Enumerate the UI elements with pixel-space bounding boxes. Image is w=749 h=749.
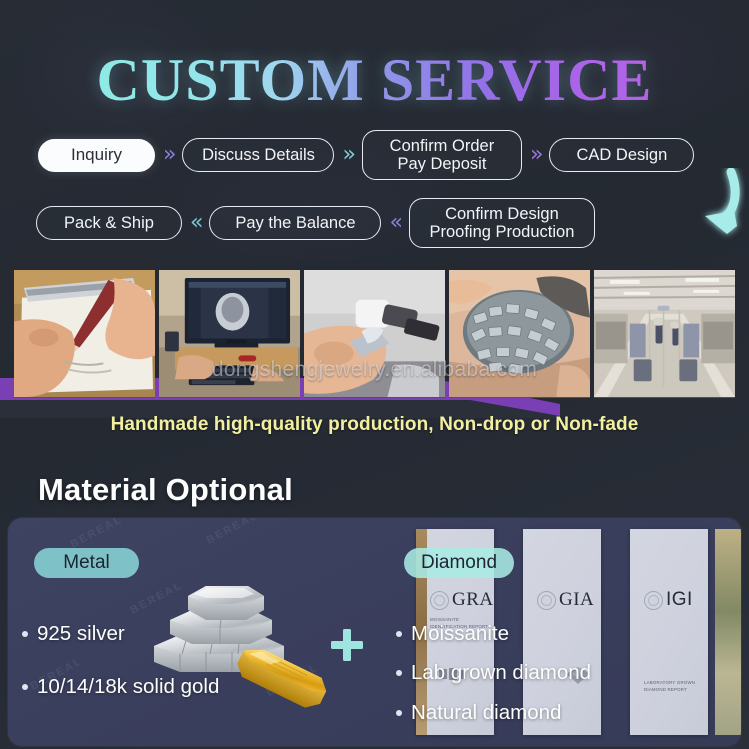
photo-casting-tree <box>449 270 590 398</box>
step-confirm-order-line1: Confirm Order <box>390 137 495 155</box>
list-item: 10/14/18k solid gold <box>22 675 219 699</box>
bullet-dot-icon <box>22 684 28 690</box>
list-item: Moissanite <box>396 622 509 646</box>
diamond-bullet-3: Natural diamond <box>411 701 561 725</box>
step-confirm-design-line2: Proofing Production <box>429 223 574 241</box>
certificate-backdrop <box>715 529 741 735</box>
certificate-igi-logo: IGI <box>666 589 693 611</box>
seal-icon <box>644 591 663 610</box>
seal-icon <box>430 591 449 610</box>
chevron-right-icon: » <box>155 144 182 166</box>
diamond-tag[interactable]: Diamond <box>404 548 514 578</box>
step-confirm-order-line2: Pay Deposit <box>390 155 495 173</box>
bullet-dot-icon <box>22 631 28 637</box>
certificate-igi: IGI LABORATORY GROWN DIAMOND REPORT <box>630 529 708 735</box>
step-pay-balance[interactable]: Pay the Balance <box>209 206 381 240</box>
step-pack-ship-label: Pack & Ship <box>64 214 154 232</box>
certificate-igi-subtitle: LABORATORY GROWN DIAMOND REPORT <box>644 679 706 693</box>
list-item: 925 silver <box>22 622 125 646</box>
section-heading: Material Optional <box>38 472 293 508</box>
chevron-right-icon: » <box>334 144 361 166</box>
bullet-dot-icon <box>396 631 402 637</box>
photo-cad-modeling <box>159 270 300 398</box>
page-title-text: CUSTOM SERVICE <box>97 44 653 116</box>
metal-bullet-2: 10/14/18k solid gold <box>37 675 219 699</box>
list-item: Lab grown diamond <box>396 661 591 685</box>
metal-tag[interactable]: Metal <box>34 548 139 578</box>
metal-bullet-1: 925 silver <box>37 622 125 646</box>
diamond-tag-label: Diamond <box>421 552 497 574</box>
seal-icon <box>537 591 556 610</box>
panel-watermark: BEREAL <box>69 518 125 551</box>
process-flow-row-1: Inquiry » Discuss Details » Confirm Orde… <box>0 133 749 177</box>
chevron-right-icon: » <box>522 144 549 166</box>
photo-factory <box>594 270 735 398</box>
panel-watermark: BEREAL <box>205 518 261 547</box>
step-confirm-design-line1: Confirm Design <box>429 205 574 223</box>
diamond-bullet-2: Lab grown diamond <box>411 661 591 685</box>
chevron-left-icon: « <box>182 212 209 234</box>
step-inquiry[interactable]: Inquiry <box>38 139 155 172</box>
list-item: Natural diamond <box>396 701 561 725</box>
step-cad-design-label: CAD Design <box>577 146 668 164</box>
certificate-gra-logo: GRA <box>452 589 494 611</box>
step-cad-design[interactable]: CAD Design <box>549 138 694 172</box>
step-discuss-details-label: Discuss Details <box>202 146 315 164</box>
gold-bar-icon <box>232 650 328 712</box>
photo-sketching <box>14 270 155 398</box>
bullet-dot-icon <box>396 710 402 716</box>
process-flow-row-2: Pack & Ship « Pay the Balance « Confirm … <box>0 199 749 247</box>
plus-icon <box>330 628 364 662</box>
step-inquiry-label: Inquiry <box>71 145 122 164</box>
bullet-dot-icon <box>396 670 402 676</box>
chevron-left-icon: « <box>381 212 408 234</box>
photo-strip <box>14 270 735 398</box>
step-discuss-details[interactable]: Discuss Details <box>182 138 334 172</box>
tagline: Handmade high-quality production, Non-dr… <box>0 414 749 436</box>
diamond-bullet-1: Moissanite <box>411 622 509 646</box>
step-confirm-order[interactable]: Confirm Order Pay Deposit <box>362 130 522 180</box>
step-pack-ship[interactable]: Pack & Ship <box>36 206 182 240</box>
certificate-gia-logo: GIA <box>559 589 594 611</box>
photo-polishing <box>304 270 445 398</box>
step-pay-balance-label: Pay the Balance <box>235 214 355 232</box>
page-title: CUSTOM SERVICE <box>0 44 749 122</box>
step-confirm-design[interactable]: Confirm Design Proofing Production <box>409 198 595 248</box>
metal-tag-label: Metal <box>63 552 109 574</box>
